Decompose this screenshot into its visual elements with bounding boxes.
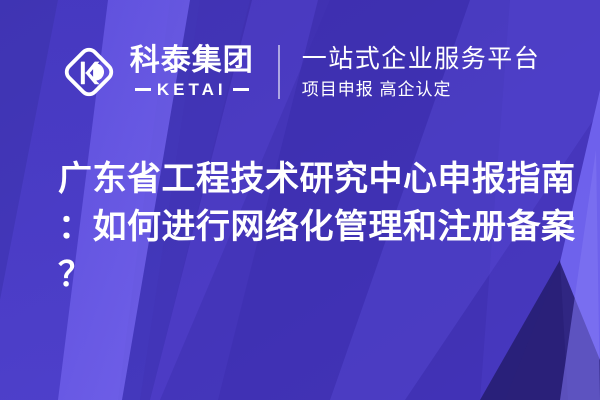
logo-english-row: KETAI	[135, 81, 249, 98]
brand-logo: 科泰集团 KETAI	[60, 43, 254, 101]
headline-line-2: ：如何进行网络化管理和注册备案	[58, 203, 558, 251]
tagline-primary: 一站式企业服务平台	[302, 47, 541, 72]
logo-english-name: KETAI	[157, 81, 227, 98]
page-title: 广东省工程技术研究中心申报指南 ：如何进行网络化管理和注册备案 ？	[58, 155, 558, 299]
logo-wordmark: 科泰集团 KETAI	[130, 46, 254, 98]
headline-line-3: ？	[58, 251, 558, 299]
brand-tagline: 一站式企业服务平台 项目申报 高企认定	[302, 47, 541, 98]
header-vertical-divider	[278, 45, 280, 99]
banner-header: 科泰集团 KETAI 一站式企业服务平台 项目申报 高企认定	[0, 34, 600, 110]
ketai-diamond-monogram-icon	[60, 43, 118, 101]
logo-dash-right-icon	[233, 88, 249, 91]
logo-chinese-name: 科泰集团	[130, 46, 254, 76]
logo-dash-left-icon	[135, 88, 151, 91]
promo-banner: 科泰集团 KETAI 一站式企业服务平台 项目申报 高企认定 广东省工程技术研究…	[0, 0, 600, 400]
headline-line-1: 广东省工程技术研究中心申报指南	[58, 155, 558, 203]
tagline-secondary: 项目申报 高企认定	[302, 81, 541, 98]
